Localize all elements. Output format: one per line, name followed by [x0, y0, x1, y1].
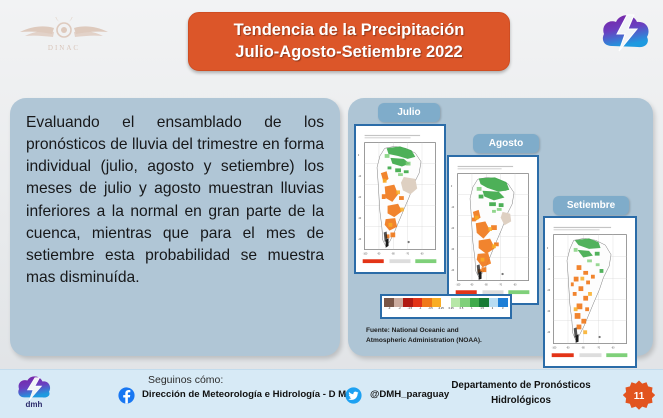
- title-line-2: Julio-Agosto-Setiembre 2022: [235, 42, 462, 64]
- title-line-1: Tendencia de la Precipitación: [234, 20, 465, 42]
- svg-text:-100: -100: [552, 347, 557, 349]
- maps-panel: Julio Agosto Setiembre: [348, 98, 653, 356]
- source-line-1: Fuente: National Oceanic and: [366, 326, 566, 336]
- legend-tick: 3: [498, 308, 508, 311]
- source-line-2: Atmospheric Administration (NOAA).: [366, 336, 566, 346]
- title-banner: Tendencia de la Precipitación Julio-Agos…: [188, 12, 510, 71]
- dmh-footer-logo: dmh: [12, 373, 56, 417]
- dmh-cloud-logo: [599, 6, 653, 58]
- legend-swatch: [470, 298, 480, 307]
- summary-paragraph: Evaluando el ensamblado de los pronóstic…: [26, 112, 324, 289]
- legend-swatch: [441, 298, 451, 307]
- legend-tick: 2: [487, 308, 497, 311]
- dinac-logo: DINAC: [14, 8, 114, 60]
- month-label-agosto: Agosto: [473, 134, 539, 153]
- svg-text:-100: -100: [456, 284, 461, 286]
- legend-swatch: [479, 298, 489, 307]
- south-america-anomaly-map-julio: 0-10-20 -30-40 -100-90-80 -70-60: [356, 126, 444, 272]
- department-name: Departamento de Pronósticos Hidrológicos: [431, 378, 611, 408]
- legend-tick: 1.5: [477, 308, 487, 311]
- month-label-julio: Julio: [378, 103, 440, 122]
- svg-text:-100: -100: [363, 253, 368, 255]
- legend-swatch: [498, 298, 508, 307]
- twitter-icon[interactable]: [345, 387, 362, 404]
- legend-swatch: [460, 298, 470, 307]
- legend-tick: -1.5: [405, 308, 415, 311]
- legend-tick: 0.25: [446, 308, 456, 311]
- footer-bar: dmh Seguinos cómo: Dirección de Meteorol…: [0, 369, 663, 418]
- legend-swatch: [394, 298, 404, 307]
- legend-swatch: [432, 298, 442, 307]
- legend-tick: -2: [394, 308, 404, 311]
- legend-tick: -0.25: [436, 308, 446, 311]
- seguinos-label: Seguinos cómo:: [148, 374, 223, 386]
- legend-swatch: [489, 298, 499, 307]
- facebook-page-name[interactable]: Dirección de Meteorología e Hidrología -…: [142, 389, 356, 400]
- legend-tick: -3: [384, 308, 394, 311]
- legend-swatches: [384, 298, 508, 307]
- department-line-2: Hidrológicos: [431, 393, 611, 408]
- legend-swatch: [451, 298, 461, 307]
- legend-tick: -0.5: [425, 308, 435, 311]
- facebook-icon[interactable]: [118, 387, 135, 404]
- anomaly-legend: -3 -2 -1.5 -1 -0.5 -0.25 0.25 0.5 1 1.5 …: [380, 294, 512, 319]
- legend-swatch: [403, 298, 413, 307]
- wings-icon: [16, 17, 112, 47]
- dmh-logo-text: dmh: [26, 400, 43, 409]
- legend-tick: 1: [467, 308, 477, 311]
- dinac-label: DINAC: [48, 44, 80, 52]
- legend-tick: 0.5: [456, 308, 466, 311]
- month-label-setiembre: Setiembre: [553, 196, 629, 215]
- slide: DINAC Tendencia de la Precipitación Juli…: [0, 0, 663, 418]
- department-line-1: Departamento de Pronósticos: [431, 378, 611, 393]
- legend-swatch: [384, 298, 394, 307]
- legend-swatch: [413, 298, 423, 307]
- south-america-anomaly-map-agosto: 0-10-20 -30-40 -100-90-80 -70-60: [449, 157, 537, 303]
- slide-number: 11: [634, 391, 645, 402]
- cloud-lightning-icon: [599, 6, 653, 58]
- map-card-julio[interactable]: 0-10-20 -30-40 -100-90-80 -70-60: [354, 124, 446, 274]
- cloud-lightning-icon: [15, 373, 53, 403]
- summary-text-panel: Evaluando el ensamblado de los pronóstic…: [10, 98, 340, 356]
- legend-ticks: -3 -2 -1.5 -1 -0.5 -0.25 0.25 0.5 1 1.5 …: [384, 308, 508, 311]
- source-attribution: Fuente: National Oceanic and Atmospheric…: [366, 326, 566, 346]
- map-card-agosto[interactable]: 0-10-20 -30-40 -100-90-80 -70-60: [447, 155, 539, 305]
- legend-swatch: [422, 298, 432, 307]
- slide-number-badge: 11: [623, 380, 655, 412]
- legend-tick: -1: [415, 308, 425, 311]
